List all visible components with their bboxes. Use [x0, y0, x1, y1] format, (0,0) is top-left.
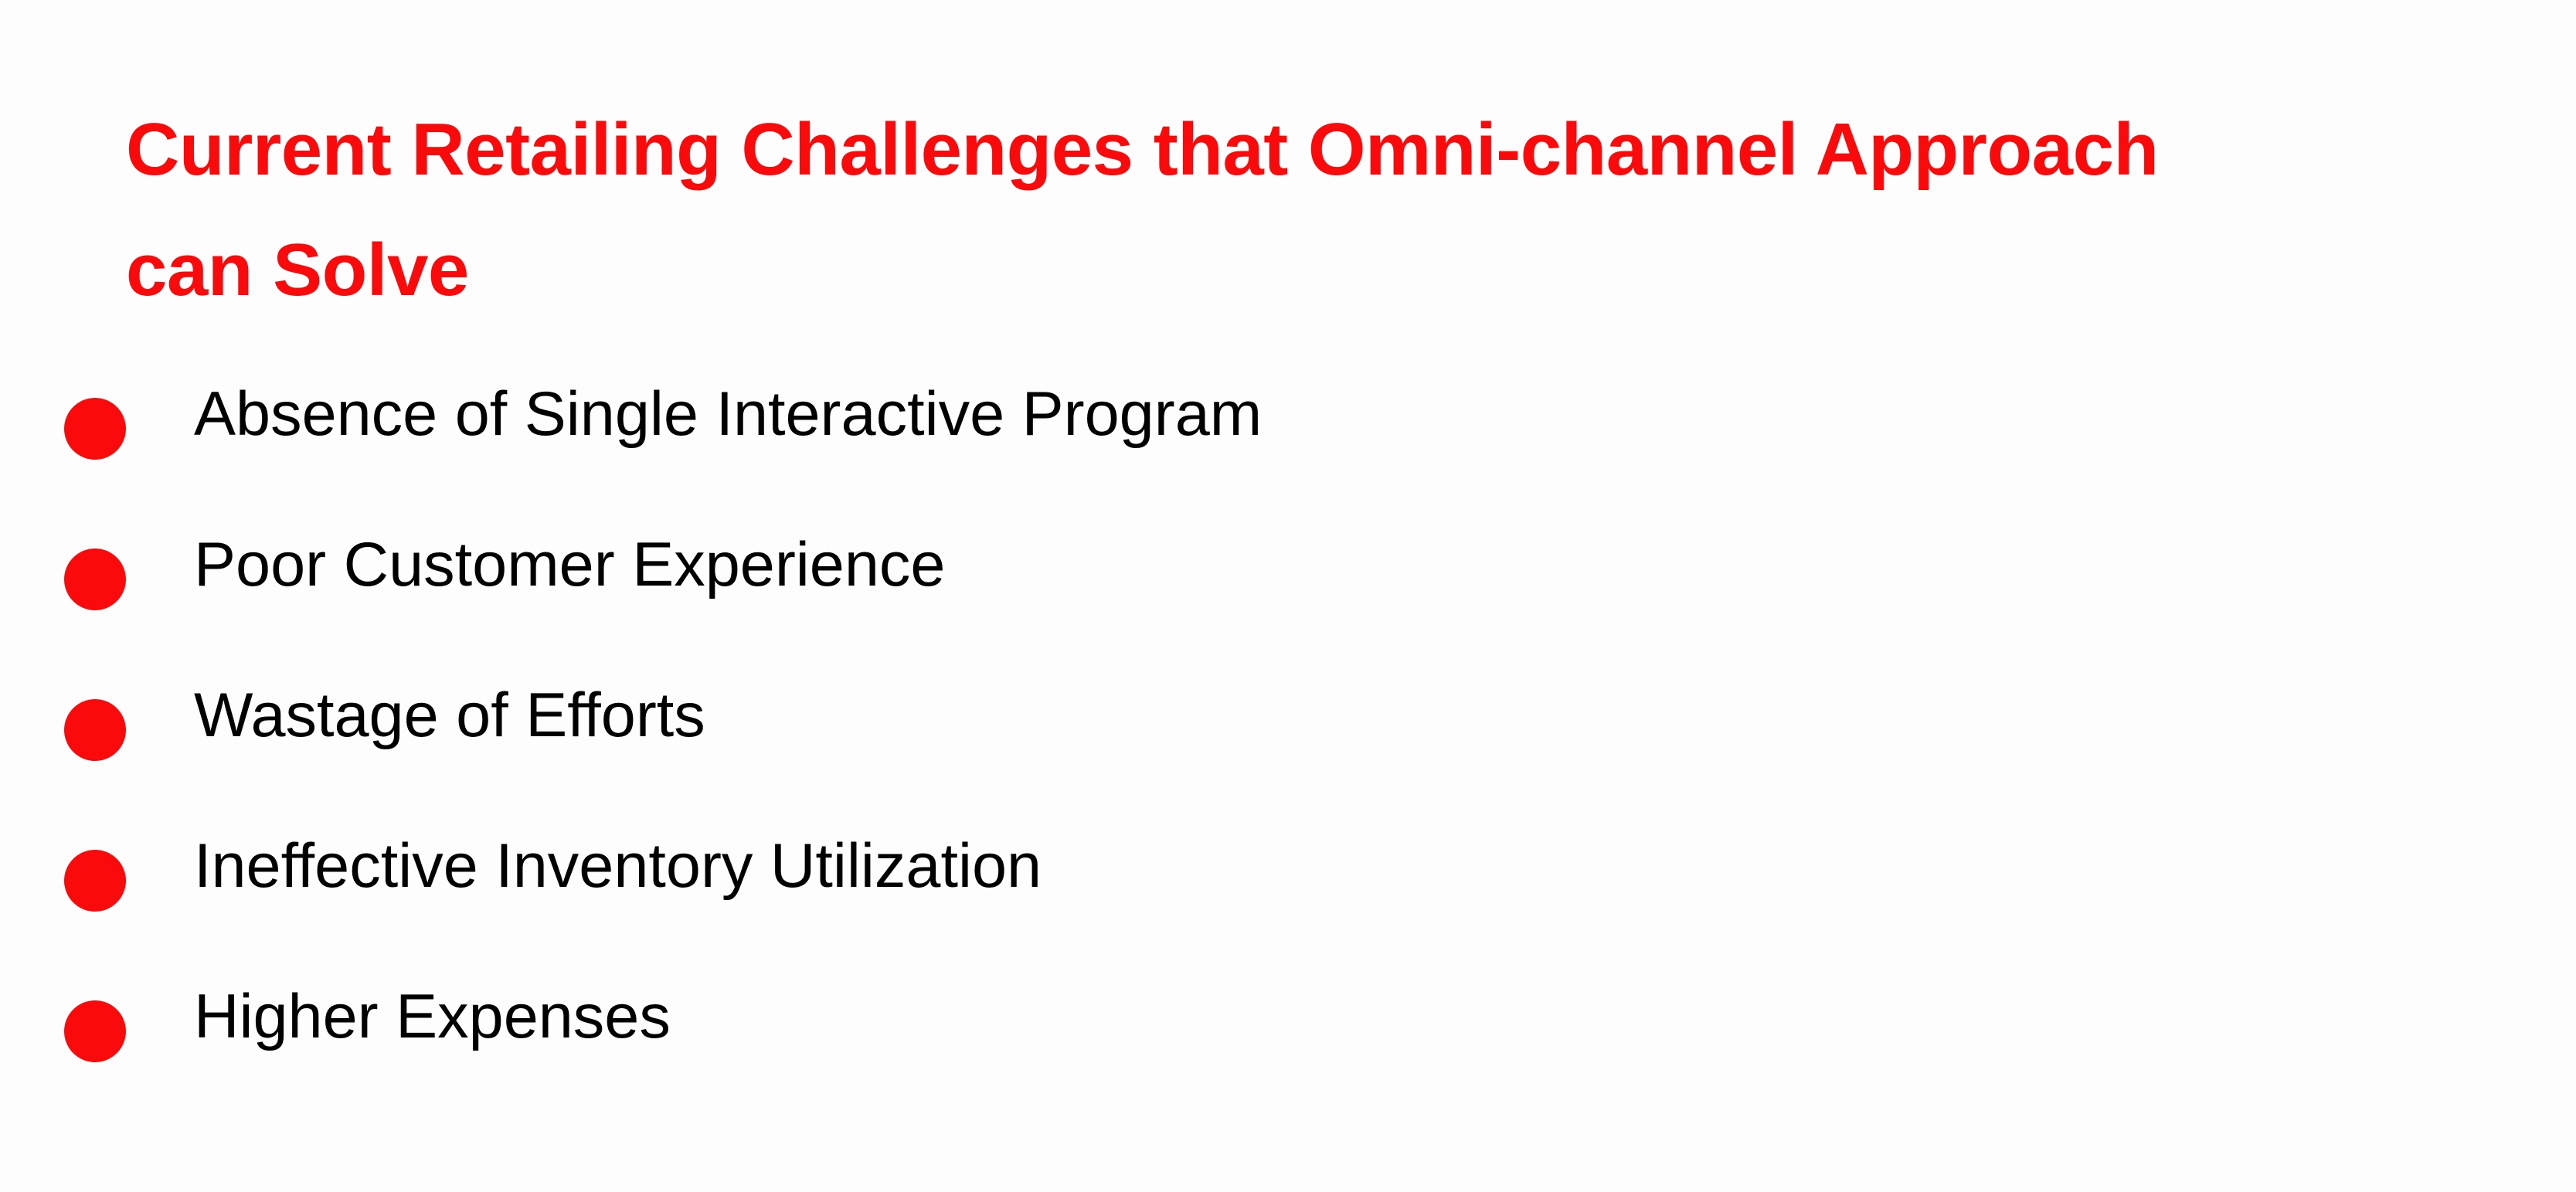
list-item-label: Wastage of Efforts: [194, 678, 705, 753]
bullet-dot-icon: [64, 548, 126, 610]
list-item-label: Ineffective Inventory Utilization: [194, 829, 1042, 904]
list-item-label: Absence of Single Interactive Program: [194, 377, 1262, 452]
list-item: Wastage of Efforts: [62, 666, 2457, 817]
bullet-dot-icon: [64, 1000, 126, 1062]
bullet-dot-icon: [64, 398, 126, 460]
list-item: Poor Customer Experience: [62, 515, 2457, 666]
page-title: Current Retailing Challenges that Omni-c…: [126, 90, 2251, 330]
list-item: Ineffective Inventory Utilization: [62, 817, 2457, 967]
list-item-label: Poor Customer Experience: [194, 528, 945, 603]
bullet-dot-icon: [64, 699, 126, 761]
list-item: Higher Expenses: [62, 967, 2457, 1118]
list-item-label: Higher Expenses: [194, 980, 671, 1054]
slide-canvas: Current Retailing Challenges that Omni-c…: [0, 0, 2576, 1192]
bullet-dot-icon: [64, 850, 126, 912]
list-item: Absence of Single Interactive Program: [62, 365, 2457, 515]
challenges-bullet-list: Absence of Single Interactive Program Po…: [62, 365, 2457, 1118]
